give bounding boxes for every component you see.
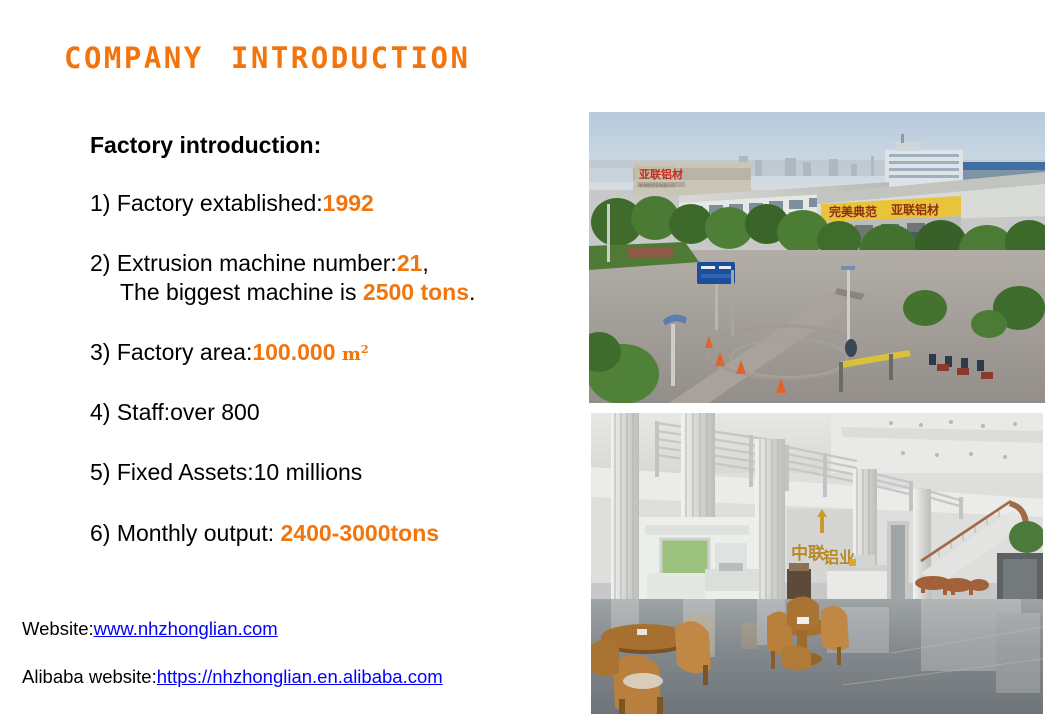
svg-text:亚联铝材: 亚联铝材: [891, 202, 939, 217]
fact-factory-area: 3) Factory area:100.000 m2: [90, 338, 570, 366]
fact-label: 4) Staff:over 800: [90, 399, 260, 425]
alibaba-website-line: Alibaba website:https://nhzhonglian.en.a…: [22, 666, 443, 688]
fact-monthly-output: 6) Monthly output: 2400-3000tons: [90, 519, 570, 547]
fact-extrusion-machine-number: 2) Extrusion machine number:21, The bigg…: [90, 249, 570, 306]
slide-canvas: Company introduction Factory introductio…: [0, 0, 1053, 714]
factory-introduction-text-block: Factory introduction: 1) Factory extabli…: [90, 131, 570, 579]
svg-text:亚联铝材: 亚联铝材: [639, 167, 683, 181]
fact-subline-biggest-machine: The biggest machine is 2500 tons.: [90, 278, 570, 306]
fact-label: 6) Monthly output:: [90, 520, 281, 546]
website-label: Website:: [22, 618, 94, 639]
fact-factory-established: 1) Factory extablished:1992: [90, 189, 570, 217]
fact-suffix: ,: [422, 250, 428, 276]
fact-label: 5) Fixed Assets:10 millions: [90, 459, 362, 485]
factory-exterior-illustration: 亚联铝材 南海联铝业有限公司 完美典范: [589, 112, 1045, 403]
svg-text:中联: 中联: [791, 543, 825, 564]
website-line: Website:www.nhzhonglian.com: [22, 618, 278, 640]
fact-value: 21: [397, 250, 423, 276]
fact-value: 100.000: [252, 339, 335, 365]
alibaba-label: Alibaba website:: [22, 666, 157, 687]
unit-exponent: 2: [361, 343, 369, 356]
fact-label: 1) Factory extablished:: [90, 190, 323, 216]
fact-label: 3) Factory area:: [90, 339, 252, 365]
fact-subline-suffix: .: [469, 279, 475, 305]
fact-subline-label: The biggest machine is: [120, 279, 363, 305]
factory-exterior-aerial-photo: 亚联铝材 南海联铝业有限公司 完美典范: [589, 112, 1045, 403]
fact-value: 2400-3000tons: [281, 520, 440, 546]
fact-value: 1992: [323, 190, 374, 216]
fact-label: 2) Extrusion machine number:: [90, 250, 397, 276]
fact-subline-value: 2500 tons: [363, 279, 469, 305]
unit-base: m: [342, 344, 361, 365]
alibaba-website-link[interactable]: https://nhzhonglian.en.alibaba.com: [157, 666, 443, 687]
fact-staff: 4) Staff:over 800: [90, 398, 570, 426]
square-meter-unit: m2: [342, 344, 369, 365]
office-lobby-interior-photo: 中联 铝业: [591, 413, 1043, 714]
lobby-interior-illustration: 中联 铝业: [591, 413, 1043, 714]
factory-introduction-heading: Factory introduction:: [90, 131, 570, 159]
fact-fixed-assets: 5) Fixed Assets:10 millions: [90, 458, 570, 486]
svg-text:完美典范: 完美典范: [829, 204, 877, 219]
page-title: Company introduction: [64, 34, 470, 75]
svg-text:南海联铝业有限公司: 南海联铝业有限公司: [639, 182, 675, 188]
website-link[interactable]: www.nhzhonglian.com: [94, 618, 278, 639]
